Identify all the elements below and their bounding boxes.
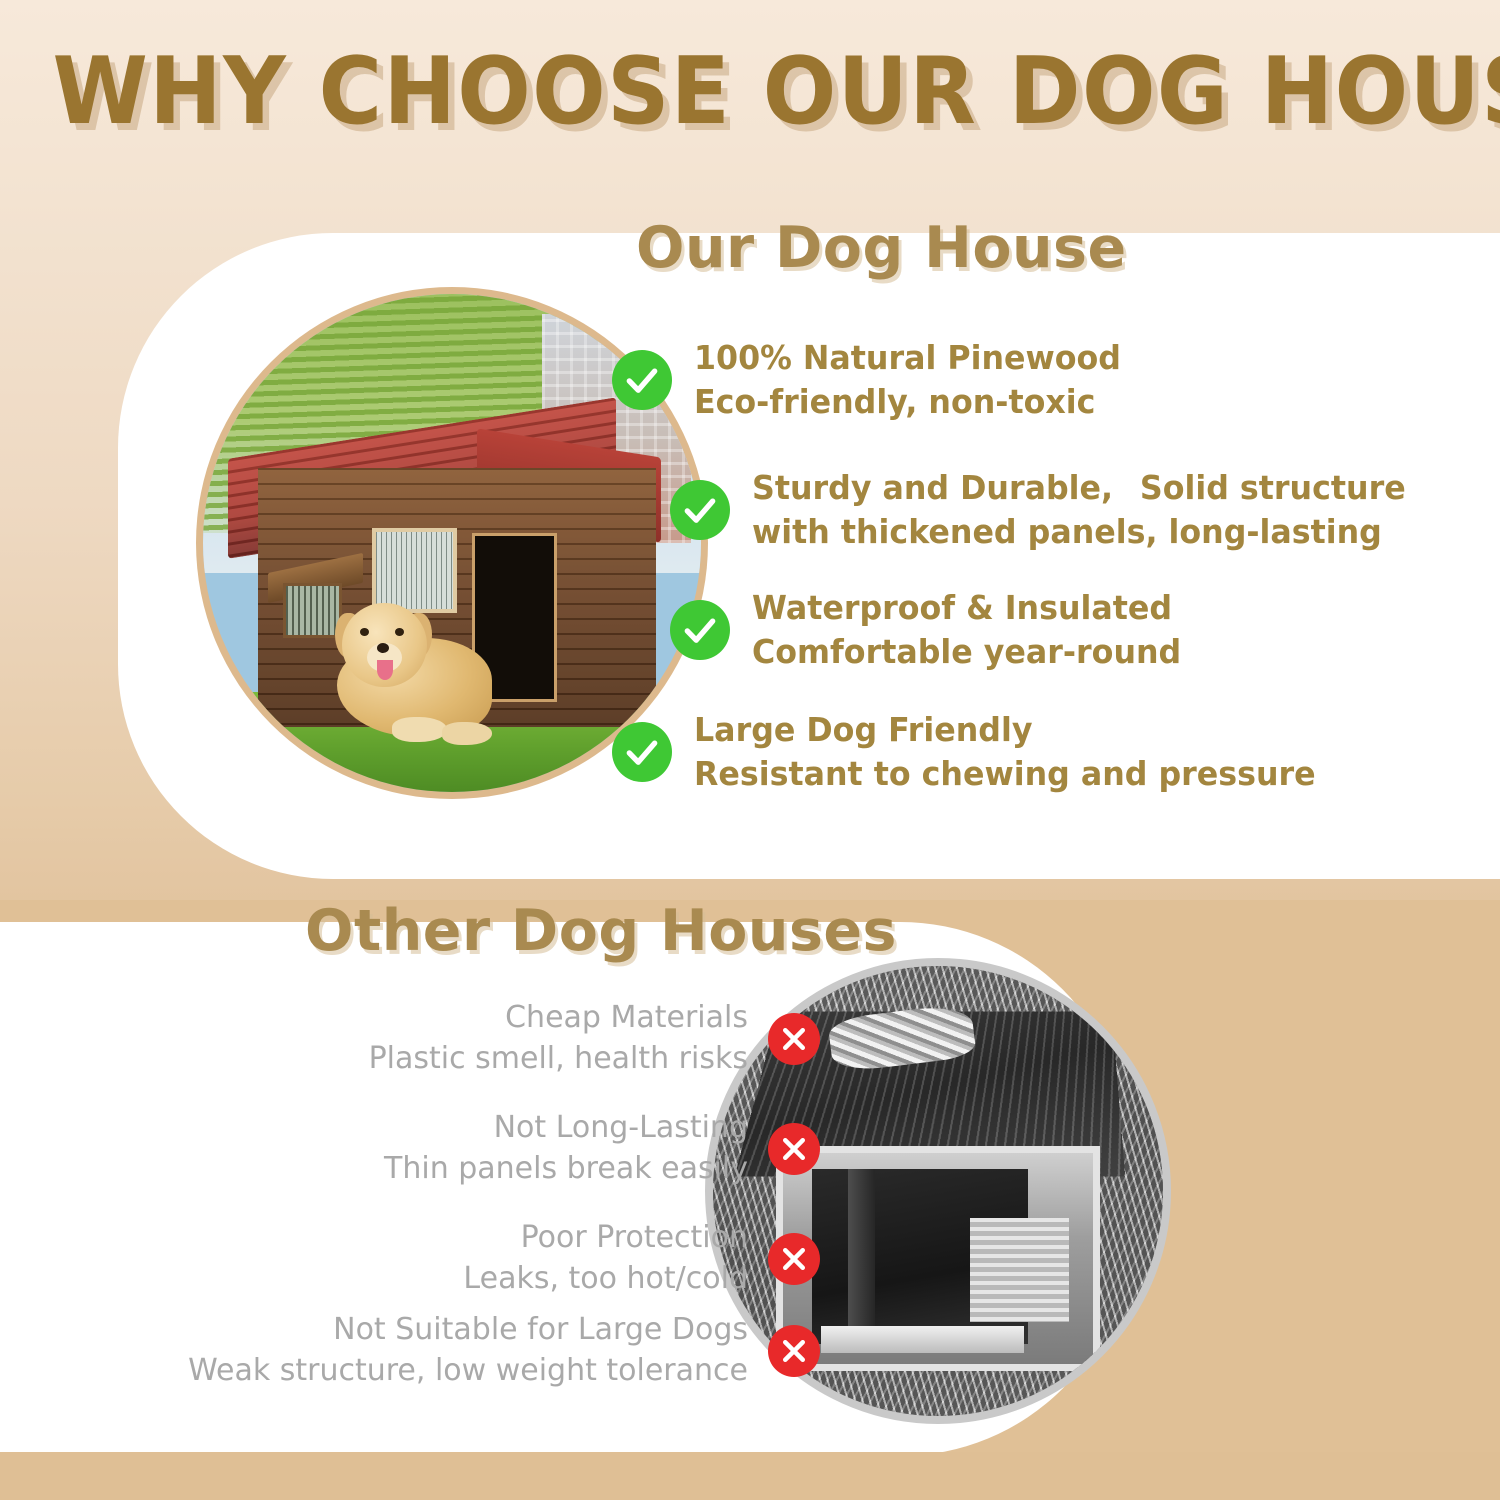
close-icon [768,1233,820,1285]
list-item-text: Cheap Materials Plastic smell, health ri… [369,998,748,1080]
check-icon [612,722,672,782]
list-item: Poor Protection Leaks, too hot/cold [120,1218,820,1300]
check-icon [670,480,730,540]
check-icon [612,350,672,410]
list-item-text: 100% Natural Pinewood Eco-friendly, non-… [694,336,1121,424]
list-item-text: Waterproof & Insulated Comfortable year-… [752,586,1181,674]
infographic-page: WHY CHOOSE OUR DOG HOUSE?" Our Dog House [0,0,1500,1500]
page-title: WHY CHOOSE OUR DOG HOUSE?" [53,42,1448,141]
list-item: Large Dog Friendly Resistant to chewing … [612,708,1342,796]
close-icon [768,1325,820,1377]
close-icon [768,1013,820,1065]
list-item-text: Poor Protection Leaks, too hot/cold [463,1218,748,1300]
check-icon [670,600,730,660]
list-item-text: Not Long-Lasting Thin panels break easil… [384,1108,748,1190]
section-heading-ours: Our Dog House [636,220,1127,277]
list-item: Not Long-Lasting Thin panels break easil… [120,1108,820,1190]
list-item: Waterproof & Insulated Comfortable year-… [670,586,1199,674]
list-item: Not Suitable for Large Dogs Weak structu… [120,1310,820,1392]
footer-tan-strip [0,1452,1500,1500]
list-item-text: Sturdy and Durable, Solid structure with… [752,466,1406,554]
list-item: Sturdy and Durable, Solid structure with… [670,466,1433,554]
section-heading-others: Other Dog Houses [305,903,897,960]
list-item-text: Not Suitable for Large Dogs Weak structu… [188,1310,748,1392]
list-item: 100% Natural Pinewood Eco-friendly, non-… [612,336,1139,424]
list-item: Cheap Materials Plastic smell, health ri… [120,998,820,1080]
close-icon [768,1123,820,1175]
list-item-text: Large Dog Friendly Resistant to chewing … [694,708,1316,796]
